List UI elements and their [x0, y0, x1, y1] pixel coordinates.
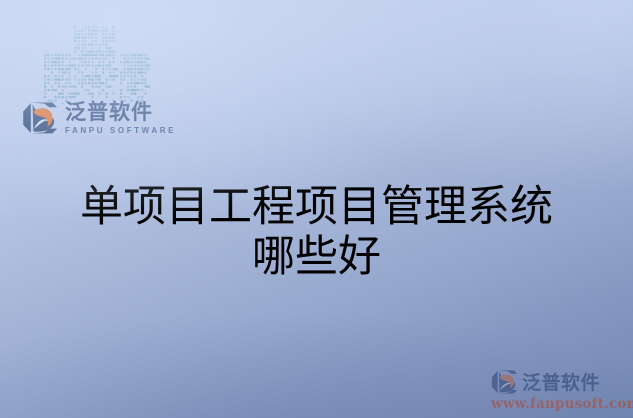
page-title: 单项目工程项目管理系统 哪些好	[0, 182, 633, 283]
fanpu-hexagon-mark-icon	[491, 369, 518, 395]
brand-name-cn: 泛普软件	[65, 102, 176, 123]
watermark-logo-row: 泛普软件	[491, 368, 627, 395]
watermark: 泛普软件 www.fanpusoft.com	[491, 368, 627, 412]
fanpu-hexagon-mark-icon	[22, 101, 58, 135]
page-title-line-2: 哪些好	[0, 232, 633, 282]
promo-banner: 泛普软件 FANPU SOFTWARE 单项目工程项目管理系统 哪些好 泛普软件…	[0, 0, 633, 418]
page-title-line-1: 单项目工程项目管理系统	[0, 182, 633, 232]
brand-logo: 泛普软件 FANPU SOFTWARE	[22, 101, 176, 135]
watermark-url: www.fanpusoft.com	[491, 396, 627, 412]
watermark-brand-name: 泛普软件	[522, 368, 600, 395]
pixel-city-skyline-graphic	[38, 12, 150, 104]
brand-name-en: FANPU SOFTWARE	[65, 127, 176, 135]
